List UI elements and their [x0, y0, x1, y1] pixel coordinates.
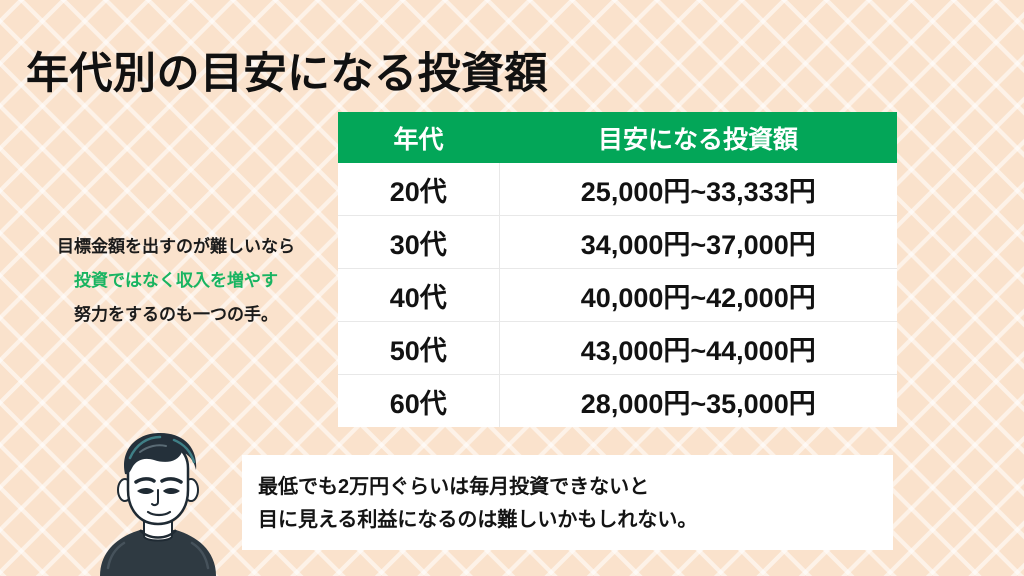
page-title: 年代別の目安になる投資額 [26, 50, 548, 99]
investment-amount-table: 年代 目安になる投資額 20代 25,000円~33,333円 30代 34,0… [338, 112, 897, 427]
caption-line-2: 目に見える利益になるのは難しいかもしれない。 [258, 504, 893, 537]
table-row: 60代 28,000円~35,000円 [338, 375, 897, 428]
side-note-line-3: 努力をするのも一つの手。 [26, 306, 326, 323]
avatar-illustration-icon [78, 428, 238, 576]
side-note-line-1: 目標金額を出すのが難しいなら [26, 238, 326, 255]
cell-amount: 40,000円~42,000円 [499, 269, 897, 322]
cell-age: 30代 [338, 216, 499, 269]
slide-canvas: 年代別の目安になる投資額 目標金額を出すのが難しいなら 投資ではなく収入を増やす… [0, 0, 1024, 576]
cell-age: 40代 [338, 269, 499, 322]
caption-box: 最低でも2万円ぐらいは毎月投資できないと 目に見える利益になるのは難しいかもしれ… [242, 455, 893, 550]
table-row: 20代 25,000円~33,333円 [338, 163, 897, 216]
cell-amount: 43,000円~44,000円 [499, 322, 897, 375]
table-row: 50代 43,000円~44,000円 [338, 322, 897, 375]
side-note-line-2-accent: 投資ではなく収入を増やす [26, 272, 326, 289]
caption-line-1: 最低でも2万円ぐらいは毎月投資できないと [258, 471, 893, 504]
side-note: 目標金額を出すのが難しいなら 投資ではなく収入を増やす 努力をするのも一つの手。 [26, 238, 326, 323]
cell-age: 20代 [338, 163, 499, 216]
table-row: 30代 34,000円~37,000円 [338, 216, 897, 269]
cell-age: 50代 [338, 322, 499, 375]
cell-amount: 34,000円~37,000円 [499, 216, 897, 269]
table-header-amount: 目安になる投資額 [499, 112, 897, 163]
avatar [78, 428, 238, 576]
table-header-row: 年代 目安になる投資額 [338, 112, 897, 163]
table-row: 40代 40,000円~42,000円 [338, 269, 897, 322]
cell-amount: 25,000円~33,333円 [499, 163, 897, 216]
table-header-age: 年代 [338, 112, 499, 163]
cell-age: 60代 [338, 375, 499, 428]
cell-amount: 28,000円~35,000円 [499, 375, 897, 428]
